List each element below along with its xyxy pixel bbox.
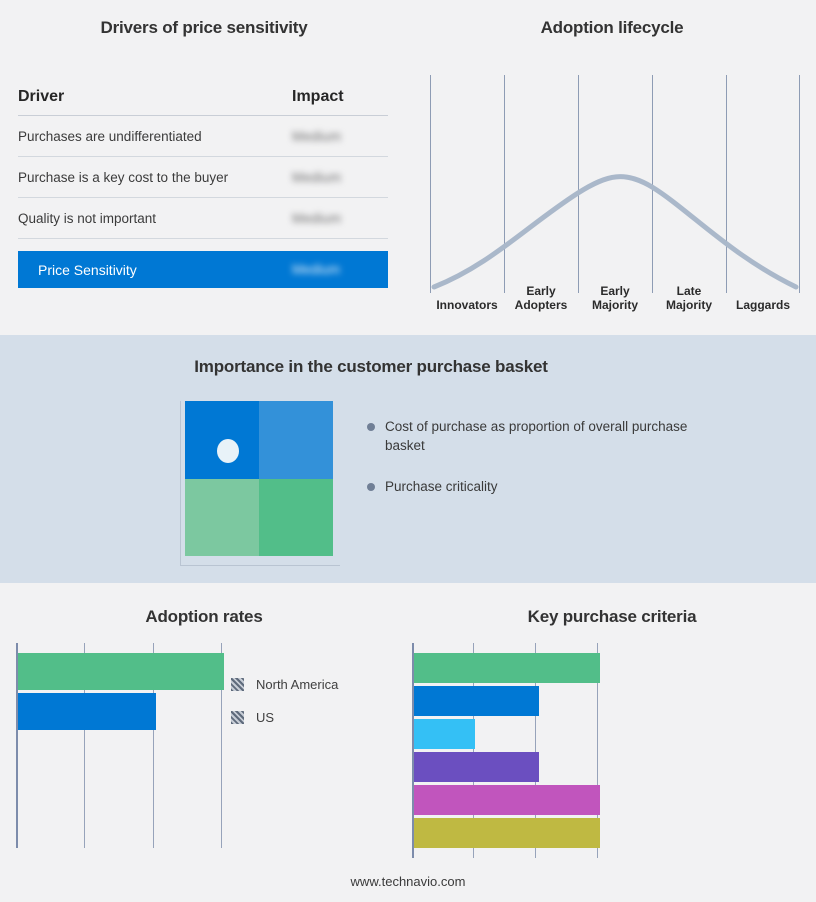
legend-label: North America: [256, 677, 338, 692]
legend-item-us: US: [231, 701, 338, 734]
stage-line-2: Laggards: [736, 298, 790, 312]
list-item: Cost of purchase as proportion of overal…: [367, 417, 697, 455]
summary-label: Price Sensitivity: [38, 262, 292, 278]
column-header-driver: Driver: [18, 88, 292, 106]
stage-line-1: Late: [677, 284, 702, 298]
impact-value-redacted: Medium: [292, 129, 384, 144]
stage-label-late-majority: Late Majority: [652, 273, 726, 313]
drivers-table: Driver Impact Purchases are undifferenti…: [18, 88, 388, 288]
stage-label-early-majority: Early Majority: [578, 273, 652, 313]
table-row: Purchase is a key cost to the buyer Medi…: [18, 157, 388, 198]
purchase-basket-matrix: [180, 401, 340, 566]
lifecycle-panel-title: Adoption lifecycle: [408, 18, 816, 38]
legend-label: US: [256, 710, 274, 725]
legend-item-north-america: North America: [231, 668, 338, 701]
stage-line-1: Early: [600, 284, 629, 298]
bar-service: [414, 818, 600, 848]
lifecycle-stage-labels: Innovators Early Adopters Early Majority…: [430, 273, 800, 313]
table-row: Purchases are undifferentiated Medium: [18, 116, 388, 157]
driver-label: Quality is not important: [18, 211, 292, 226]
key-purchase-criteria-chart: [412, 643, 600, 858]
footer-url: www.technavio.com: [0, 874, 816, 889]
key-purchase-criteria-title: Key purchase criteria: [408, 607, 816, 627]
adoption-rates-panel: Adoption rates North America US: [0, 583, 408, 902]
adoption-lifecycle-panel: Adoption lifecycle Innovators Early: [408, 0, 816, 335]
matrix-quadrants: [185, 401, 333, 556]
bar-price: [414, 686, 539, 716]
key-purchase-criteria-panel: Key purchase criteria Innovation: [408, 583, 816, 902]
bell-curve-line: [430, 75, 800, 293]
adoption-rates-bars: [18, 653, 224, 733]
adoption-rates-legend: North America US: [231, 668, 338, 734]
lifecycle-chart: Innovators Early Adopters Early Majority…: [430, 75, 800, 310]
bar-innovation: [414, 653, 600, 683]
column-header-impact: Impact: [292, 88, 384, 106]
stage-label-early-adopters: Early Adopters: [504, 273, 578, 313]
driver-label: Purchase is a key cost to the buyer: [18, 170, 292, 185]
quadrant-top-left: [185, 401, 259, 479]
bar-relatability: [414, 752, 539, 782]
adoption-rates-chart: [16, 643, 224, 848]
impact-value-redacted: Medium: [292, 211, 384, 226]
stage-line-2: Majority: [666, 298, 712, 312]
bullet-dot-icon: [367, 423, 375, 431]
hatched-swatch-icon: [231, 711, 244, 724]
basket-legend-label: Cost of purchase as proportion of overal…: [385, 417, 697, 455]
basket-legend-label: Purchase criticality: [385, 477, 498, 496]
bar-regulatory-compliance: [414, 785, 600, 815]
driver-label: Purchases are undifferentiated: [18, 129, 292, 144]
basket-panel-title: Importance in the customer purchase bask…: [0, 357, 742, 377]
stage-line-2: Innovators: [436, 298, 497, 312]
stage-line-2: Majority: [592, 298, 638, 312]
bar-quality: [414, 719, 475, 749]
bar-us: [18, 693, 156, 730]
purchase-basket-panel: Importance in the customer purchase bask…: [0, 335, 816, 583]
stage-label-laggards: Laggards: [726, 273, 800, 313]
summary-impact-value-redacted: Medium: [292, 262, 384, 277]
quadrant-bottom-right: [259, 479, 333, 557]
stage-line-2: Adopters: [515, 298, 568, 312]
matrix-marker-dot: [217, 439, 239, 463]
bullet-dot-icon: [367, 483, 375, 491]
basket-legend: Cost of purchase as proportion of overal…: [367, 417, 697, 518]
list-item: Purchase criticality: [367, 477, 697, 496]
price-sensitivity-summary-row: Price Sensitivity Medium: [18, 251, 388, 288]
adoption-rates-title: Adoption rates: [0, 607, 408, 627]
key-purchase-criteria-bars: [414, 653, 600, 851]
impact-value-redacted: Medium: [292, 170, 384, 185]
hatched-swatch-icon: [231, 678, 244, 691]
infographic-page: Drivers of price sensitivity Driver Impa…: [0, 0, 816, 902]
drivers-panel-title: Drivers of price sensitivity: [0, 18, 408, 38]
bar-north-america: [18, 653, 224, 690]
stage-label-innovators: Innovators: [430, 273, 504, 313]
stage-line-1: Early: [526, 284, 555, 298]
drivers-table-header: Driver Impact: [18, 88, 388, 116]
drivers-of-price-sensitivity-panel: Drivers of price sensitivity Driver Impa…: [0, 0, 408, 335]
quadrant-bottom-left: [185, 479, 259, 557]
quadrant-top-right: [259, 401, 333, 479]
table-row: Quality is not important Medium: [18, 198, 388, 239]
